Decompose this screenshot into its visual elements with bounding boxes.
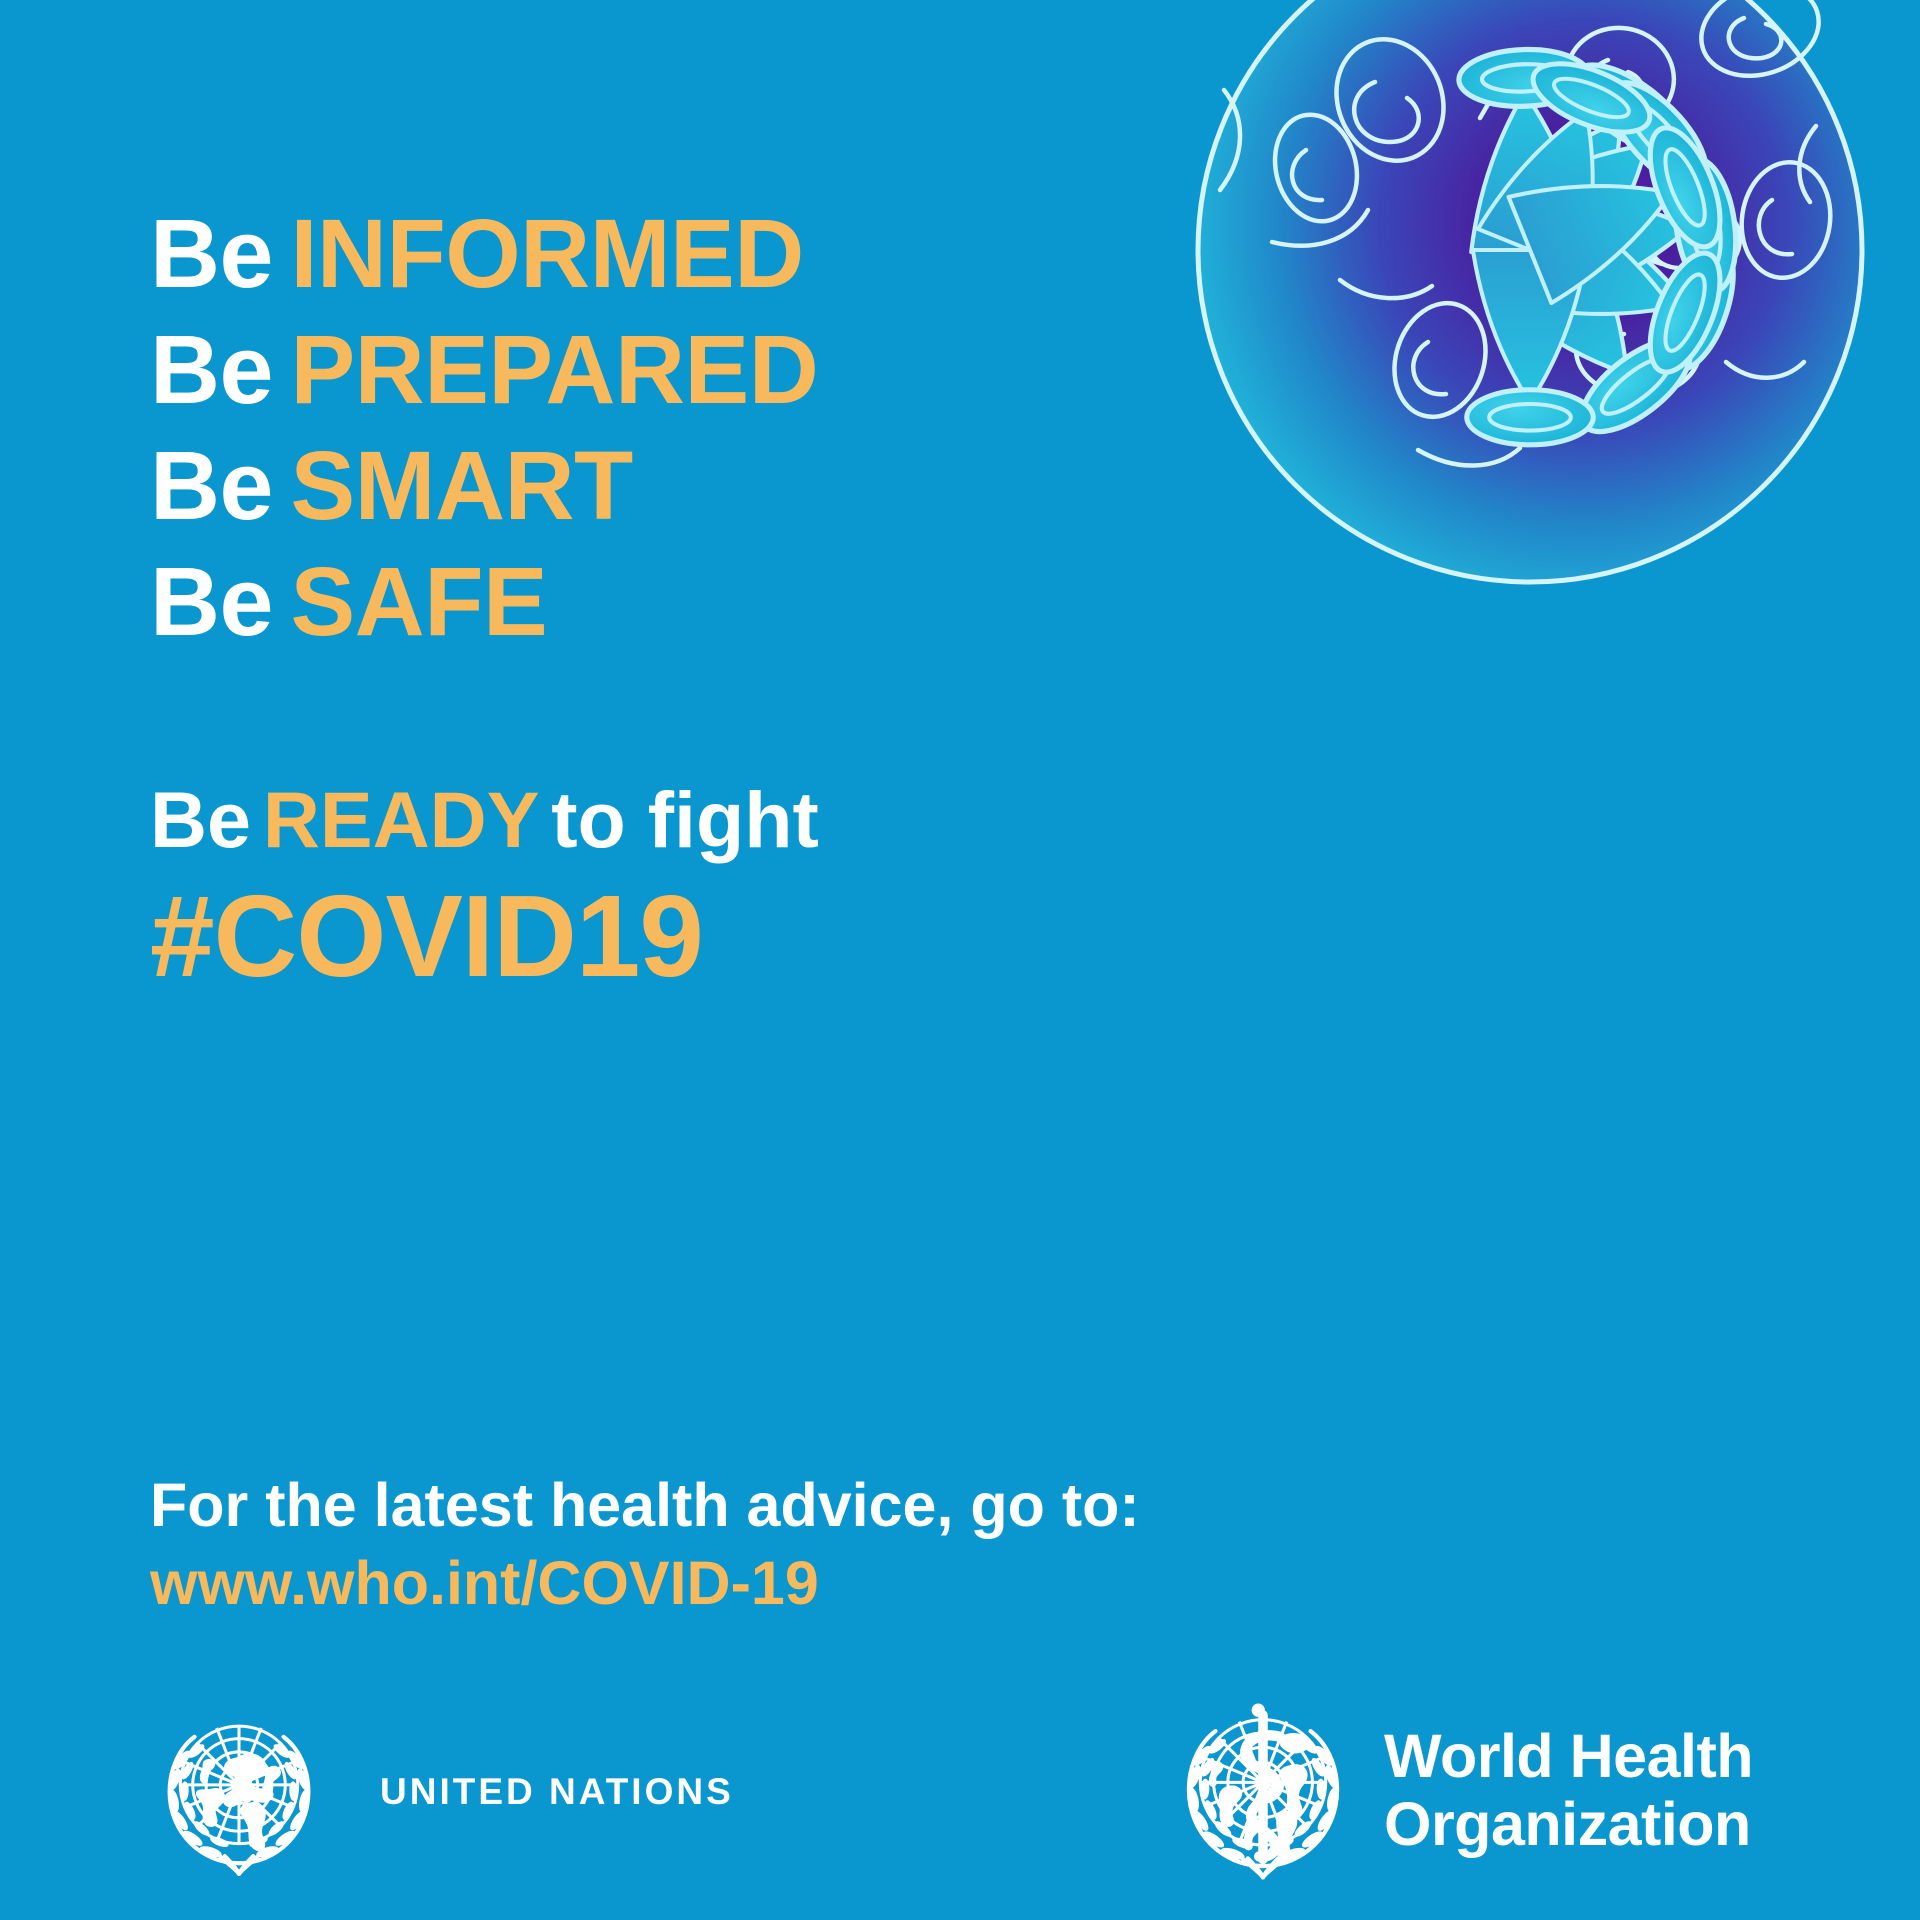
ready-keyword: READY: [263, 775, 540, 864]
ready-line: BeREADYto fight: [150, 772, 1250, 868]
who-wordmark-line2: Organization: [1384, 1790, 1753, 1858]
headline-prefix: Be: [150, 315, 273, 424]
headline-keyword-informed: INFORMED: [290, 199, 803, 308]
un-wordmark-text: UNITED NATIONS: [380, 1771, 734, 1813]
virus-spikes-back: [1373, 51, 1730, 451]
virus-body: [1198, 0, 1862, 582]
advice-label: For the latest health advice, go to:: [150, 1467, 1350, 1543]
headline-line-prepared: BePREPARED: [150, 312, 1150, 428]
headline-line-informed: BeINFORMED: [150, 196, 1150, 312]
who-wordmark-line1: World Health: [1384, 1722, 1753, 1790]
ready-prefix: Be: [150, 775, 251, 864]
headline-keyword-prepared: PREPARED: [290, 315, 818, 424]
ready-block: BeREADYto fight #COVID19: [150, 772, 1250, 998]
un-emblem-icon: [150, 1703, 328, 1881]
virus-spikes-front: [1458, 47, 1747, 448]
virus-surface-details: [1220, 0, 1838, 466]
who-wordmark-text: World Health Organization: [1384, 1722, 1753, 1858]
covid19-hashtag: #COVID19: [150, 874, 1250, 998]
headline-prefix: Be: [150, 199, 273, 308]
headline-prefix: Be: [150, 431, 273, 540]
headline-prefix: Be: [150, 547, 273, 656]
united-nations-logo: UNITED NATIONS: [150, 1702, 734, 1882]
who-logo: World Health Organization: [1168, 1692, 1753, 1887]
headline-line-safe: BeSAFE: [150, 544, 1150, 660]
headline-keyword-smart: SMART: [290, 431, 632, 540]
advice-url-link[interactable]: www.who.int/COVID-19: [150, 1545, 1350, 1621]
advice-block: For the latest health advice, go to: www…: [150, 1467, 1350, 1621]
who-emblem-icon: [1168, 1695, 1358, 1885]
headline-block: BeINFORMED BePREPARED BeSMART BeSAFE: [150, 196, 1150, 660]
who-covid19-poster: BeINFORMED BePREPARED BeSMART BeSAFE BeR…: [0, 0, 1920, 1920]
headline-keyword-safe: SAFE: [290, 547, 547, 656]
ready-suffix: to fight: [551, 775, 819, 864]
headline-line-smart: BeSMART: [150, 428, 1150, 544]
